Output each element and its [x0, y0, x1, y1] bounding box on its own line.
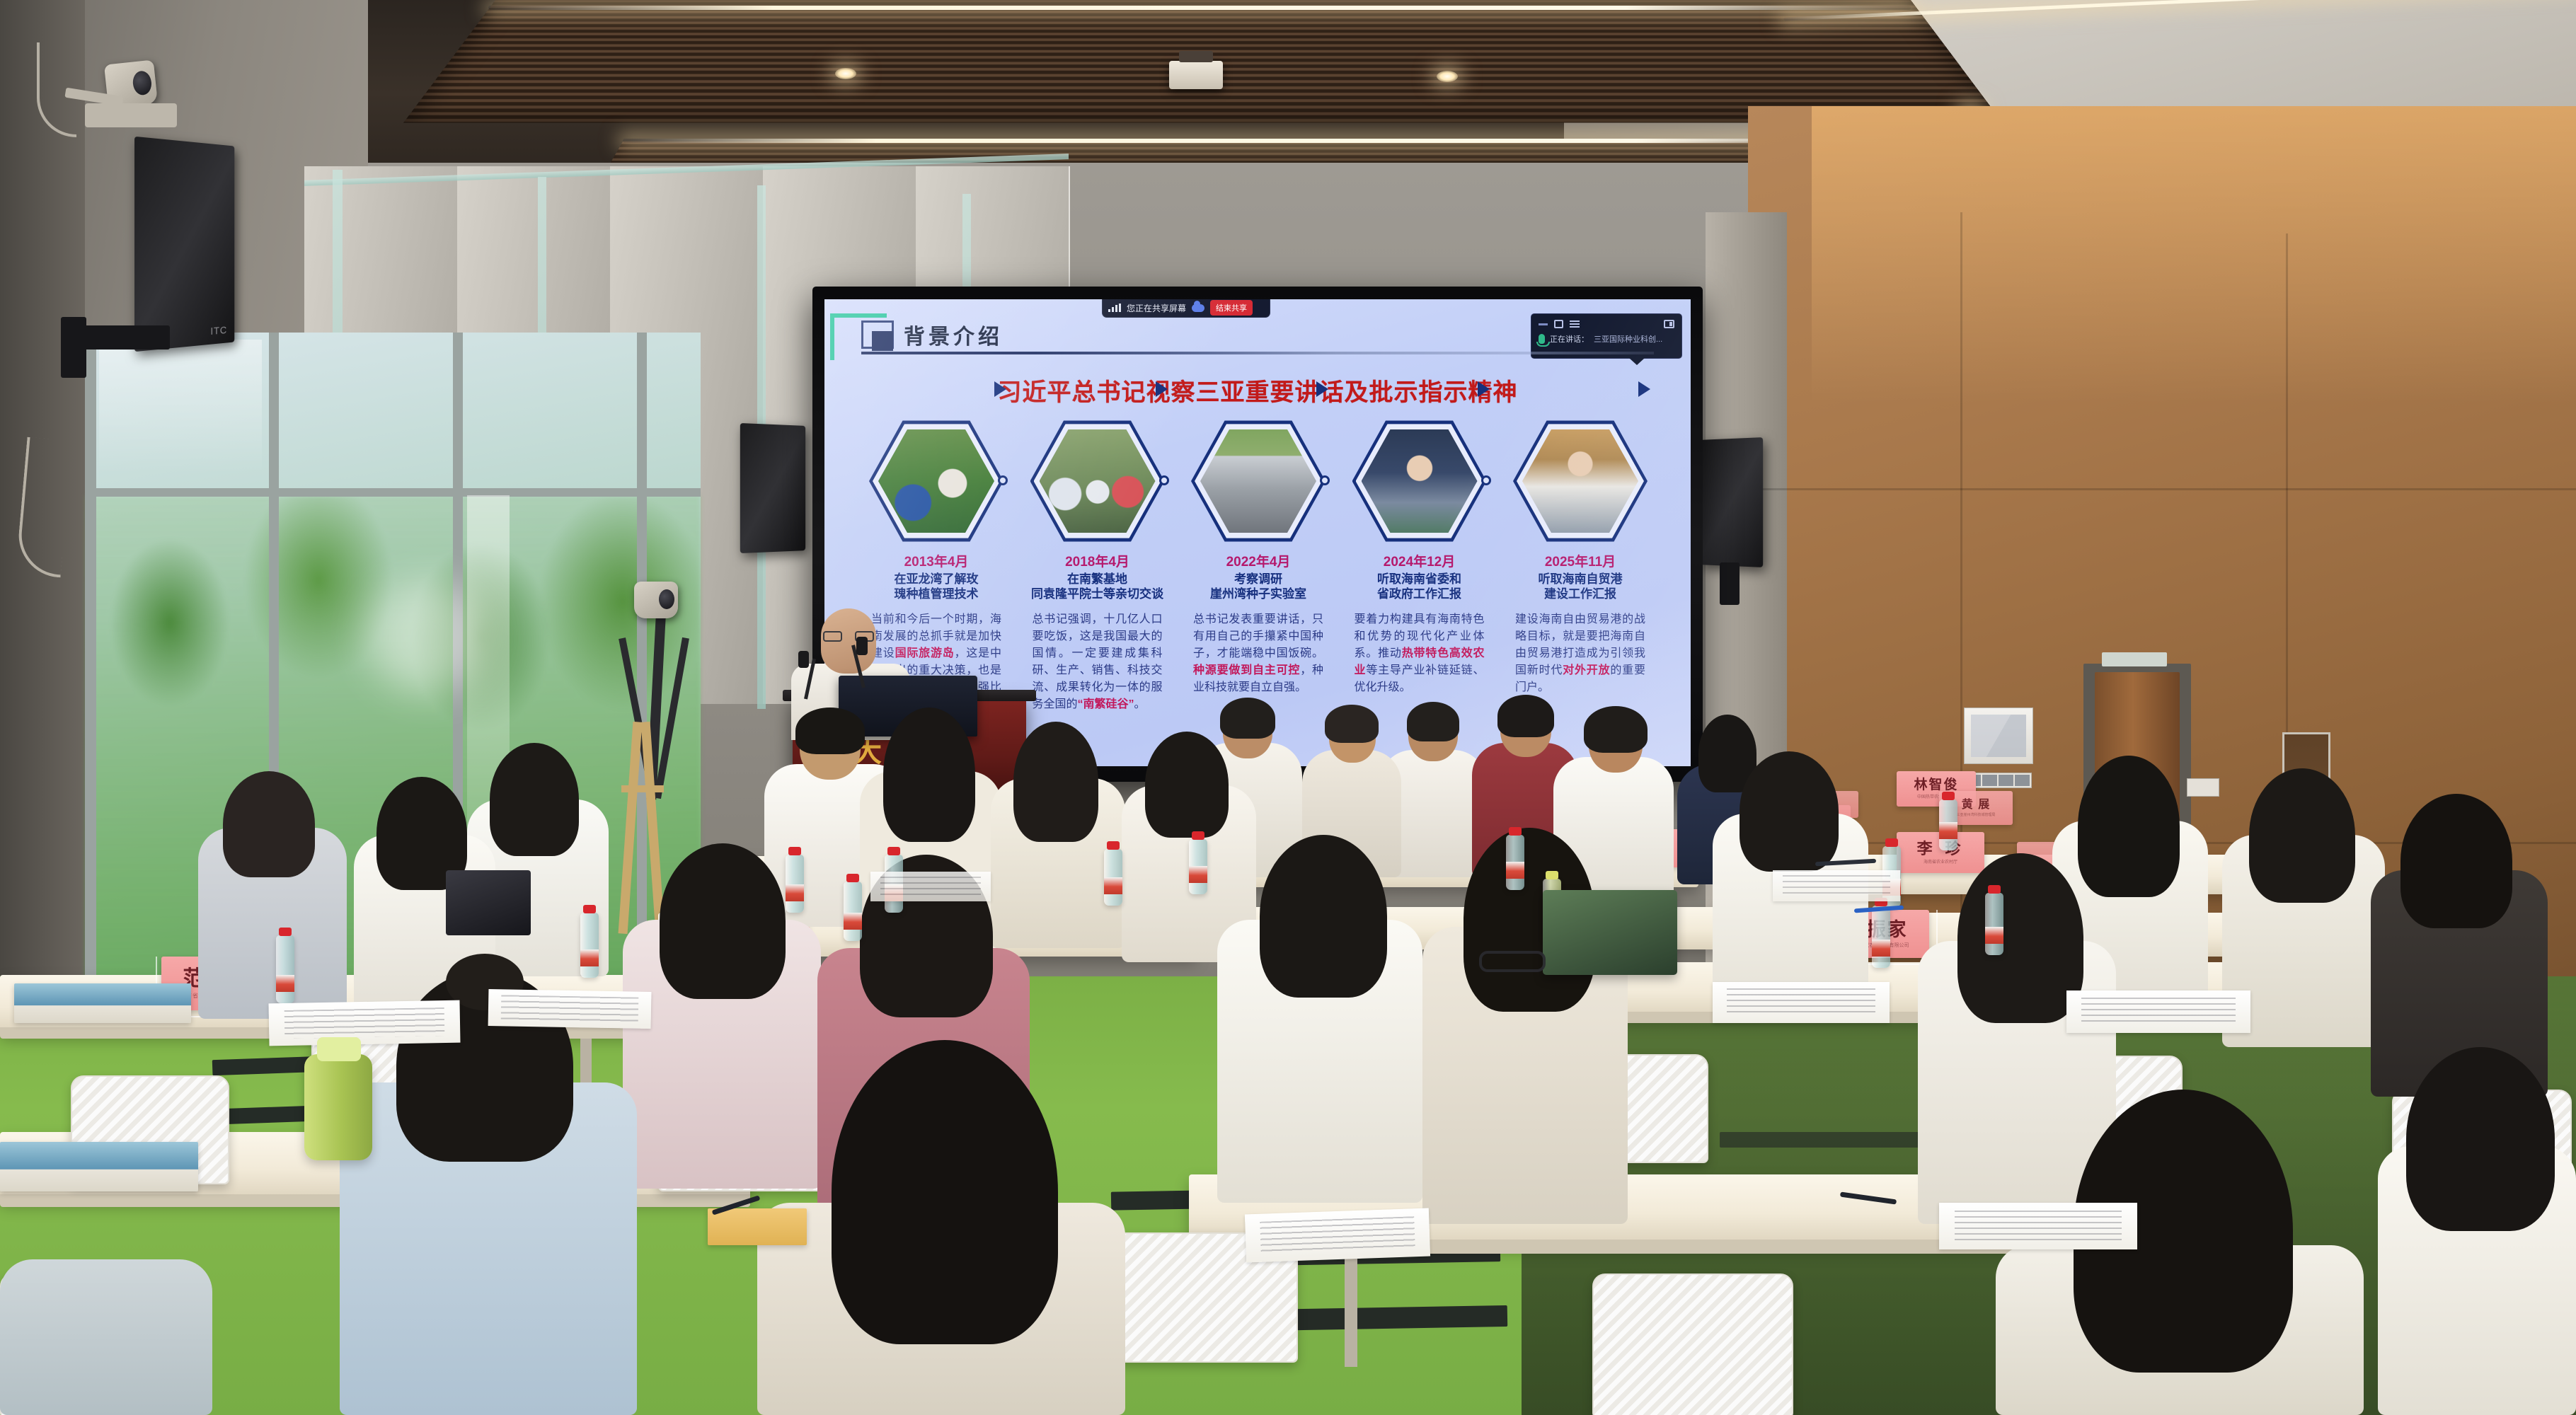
- timeline-caption: 听取海南省委和省政府工作汇报: [1349, 572, 1490, 601]
- wall-access-panel: [2187, 778, 2219, 797]
- camera-mount-bracket: [85, 103, 177, 127]
- handout-paper: [1245, 1208, 1430, 1262]
- timeline-caption: 听取海南自贸港建设工作汇报: [1510, 572, 1651, 601]
- brochure-stack: [14, 983, 191, 1023]
- water-bottle: [1104, 849, 1122, 906]
- wall-speaker-center-left: [740, 423, 805, 553]
- timeline-body: 建设海南自由贸易港的战略目标，就是要把海南自由贸易港打造成为引领我国新时代对外开…: [1510, 611, 1651, 696]
- timeline-date: 2013年4月: [866, 551, 1007, 570]
- timeline-arrow-icon: [1316, 381, 1328, 397]
- sharing-status-label: 您正在共享屏幕: [1127, 302, 1186, 314]
- wall-speaker-right: [1701, 437, 1763, 567]
- ceiling-downlight: [1437, 71, 1458, 82]
- slide-corner-accent-v: [830, 313, 834, 360]
- laptop-icon[interactable]: [1543, 890, 1677, 975]
- timeline-item-2024: 2024年12月 听取海南省委和省政府工作汇报 要着力构建具有海南特色和优势的现…: [1349, 418, 1490, 713]
- signal-bars-icon: [1108, 304, 1121, 312]
- timeline-connector: [988, 475, 1019, 486]
- timeline-date: 2025年11月: [1510, 551, 1651, 570]
- brochure-stack: [0, 1142, 198, 1191]
- timeline-date: 2024年12月: [1349, 551, 1490, 570]
- timeline-body: 总书记发表重要讲话，只有用自己的手攥紧中国种子，才能端稳中国饭碗。种源要做到自主…: [1188, 611, 1329, 696]
- speaker-bracket: [78, 325, 170, 350]
- timeline-arrow-icon: [1156, 381, 1168, 397]
- end-share-button[interactable]: 结束共享: [1210, 300, 1253, 316]
- water-bottle: [844, 882, 862, 941]
- speaker-bracket-right: [1720, 562, 1740, 605]
- handout-paper: [1713, 982, 1890, 1023]
- hexagon-frame: [1513, 418, 1648, 544]
- timeline-connector: [1471, 475, 1502, 486]
- handout-paper: [1773, 870, 1900, 901]
- chair[interactable]: [1592, 1273, 1793, 1415]
- handout-paper: [1939, 1203, 2137, 1249]
- timeline-connector: [1149, 475, 1180, 486]
- handout-paper: [870, 872, 991, 901]
- slide-corner-accent-h: [830, 313, 887, 318]
- microphone-icon: [1539, 334, 1545, 344]
- timeline-arrow-icon: [994, 381, 1006, 397]
- timeline-caption: 考察调研崖州湾种子实验室: [1188, 572, 1329, 601]
- nameplate-name: 林智俊: [1914, 778, 1958, 792]
- handout-paper: [2066, 990, 2250, 1033]
- slide-section-heading: 背景介绍: [861, 319, 1003, 350]
- timeline-item-2018: 2018年4月 在南繁基地同袁隆平院士等亲切交谈 总书记强调，十几亿人口要吃饭，…: [1027, 418, 1168, 713]
- easel-crossbar: [621, 785, 664, 792]
- water-bottle: [580, 913, 599, 978]
- heading-rule: [861, 352, 1654, 354]
- section-heading-text: 背景介绍: [904, 319, 1003, 350]
- water-bottle: [1506, 835, 1524, 890]
- participants-list-icon[interactable]: [1570, 320, 1580, 328]
- timeline-row: 2013年4月 在亚龙湾了解玫瑰种植管理技术 当前和今后一个时期，海南发展的总抓…: [866, 418, 1651, 713]
- nameplate-org: 海南省农业农村厅: [1924, 860, 1957, 865]
- table-leg: [1345, 1254, 1357, 1367]
- nameplate-org: 三亚崖州湾科技城管理局: [1956, 814, 1995, 817]
- window-transom: [85, 488, 701, 497]
- timeline-item-2025: 2025年11月 听取海南自贸港建设工作汇报 建设海南自由贸易港的战略目标，就是…: [1510, 418, 1651, 713]
- ceiling-downlight: [835, 68, 856, 79]
- microphone-capsule: [856, 637, 868, 655]
- cloud-icon: [1192, 304, 1204, 312]
- timeline-arrow-icon: [1638, 381, 1650, 397]
- door-sign: [2102, 652, 2167, 666]
- minimize-icon[interactable]: [1539, 323, 1548, 325]
- timeline-body: 总书记强调，十几亿人口要吃饭，这是我国最大的国情。一定要建成集科研、生产、销售、…: [1027, 611, 1168, 713]
- heading-square-icon: [861, 320, 894, 349]
- timeline-date: 2018年4月: [1027, 551, 1168, 570]
- tablet-icon[interactable]: [446, 870, 531, 935]
- active-speaker-name: 三亚国际种业科创...: [1594, 333, 1662, 345]
- water-bottle: [786, 855, 804, 913]
- timeline-body: 要着力构建具有海南特色和优势的现代化产业体系。推动热带特色高效农业等主导产业补链…: [1349, 611, 1490, 696]
- hexagon-frame: [1030, 418, 1165, 544]
- microphone-capsule: [798, 651, 809, 668]
- water-bottle: [1939, 799, 1957, 850]
- water-bottle: [1189, 839, 1207, 894]
- thermos-bottle: [304, 1054, 372, 1160]
- speaking-label: 正在讲话：: [1550, 333, 1589, 345]
- water-bottle: [1985, 893, 2003, 955]
- timeline-date: 2022年4月: [1188, 551, 1329, 570]
- maximize-icon[interactable]: [1554, 320, 1563, 328]
- timeline-connector: [1310, 475, 1341, 486]
- screen-share-bar[interactable]: 您正在共享屏幕 结束共享: [1102, 299, 1270, 318]
- eyeglasses: [1479, 951, 1546, 972]
- ceiling-led-cove-light-1: [488, 6, 1911, 10]
- water-bottle: [1872, 906, 1890, 968]
- wall-plaque: [1964, 707, 2033, 764]
- right-wall-uplight-glow: [1812, 106, 2576, 403]
- hexagon-frame: [869, 418, 1004, 544]
- speaker-brand-label: ITC: [210, 324, 227, 337]
- ceiling-led-cove-light-2: [623, 139, 1890, 143]
- handout-paper: [268, 1000, 460, 1046]
- hexagon-frame: [1352, 418, 1487, 544]
- ceiling-projector-icon: [1169, 61, 1223, 89]
- wall-speaker-left: ITC: [134, 137, 234, 352]
- handout-paper: [488, 989, 652, 1029]
- timeline-item-2022: 2022年4月 考察调研崖州湾种子实验室 总书记发表重要讲话，只有用自己的手攥紧…: [1188, 418, 1329, 713]
- hexagon-frame: [1191, 418, 1326, 544]
- water-bottle: [276, 935, 294, 1003]
- window-glare: [99, 340, 262, 474]
- window-mullion: [85, 333, 96, 1047]
- dock-panel-icon[interactable]: [1664, 320, 1674, 328]
- tripod-camera-icon: [634, 582, 678, 618]
- timeline-caption: 在亚龙湾了解玫瑰种植管理技术: [866, 572, 1007, 601]
- timeline-arrow-icon: [1478, 381, 1490, 397]
- conference-room-photo: ITC 您正在共享屏幕 结束共享: [0, 0, 2576, 1415]
- speaker-bracket-plate: [61, 317, 86, 378]
- notebook: [708, 1208, 807, 1245]
- thermos-cap: [317, 1037, 361, 1061]
- window-bloom: [368, 580, 488, 693]
- nameplate-name: 黄 展: [1962, 799, 1991, 810]
- timeline-caption: 在南繁基地同袁隆平院士等亲切交谈: [1027, 572, 1168, 601]
- slide-title: 习近平总书记视察三亚重要讲话及批示指示精神: [824, 373, 1691, 408]
- wall-panel-seam: [1748, 488, 2576, 490]
